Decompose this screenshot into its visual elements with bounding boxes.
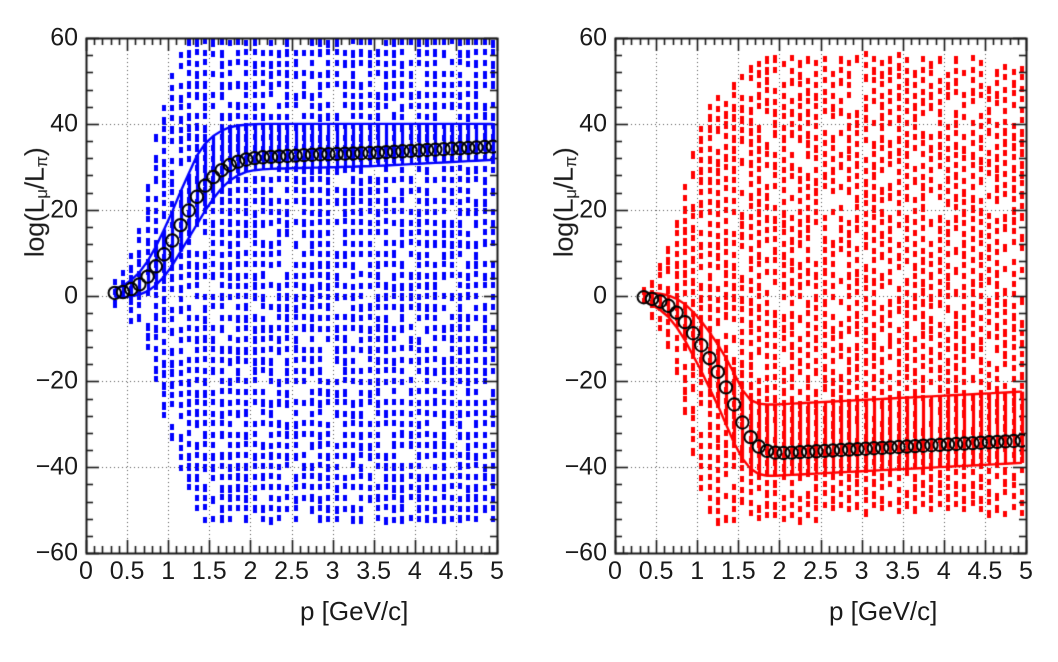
x-tick-label: 1.5 xyxy=(721,557,756,586)
y-axis-title-muon: log(Lμ/Lπ) xyxy=(20,92,53,312)
x-tick-label: 0.5 xyxy=(639,557,674,586)
x-tick-label: 0 xyxy=(79,557,93,586)
y-axis-title-text: log(L xyxy=(20,199,50,258)
y-axis-title-end: ) xyxy=(20,147,50,156)
y-axis-title-mid: /L xyxy=(20,167,50,189)
chart-panel-pion: log(Lμ/Lπ) p [GeV/c] −60−40−20020406000.… xyxy=(529,0,1058,662)
x-tick-label: 4 xyxy=(408,557,422,586)
x-tick-label: 2 xyxy=(772,557,786,586)
y-tick-label: −60 xyxy=(565,539,607,568)
x-tick-label: 5 xyxy=(1019,557,1033,586)
y-tick-label: −40 xyxy=(36,453,78,482)
x-tick-label: 2 xyxy=(243,557,257,586)
y-tick-label: −20 xyxy=(565,367,607,396)
y-tick-label: −20 xyxy=(36,367,78,396)
x-tick-label: 3.5 xyxy=(885,557,920,586)
x-tick-label: 3.5 xyxy=(356,557,391,586)
y-axis-title-sub-mu: μ xyxy=(32,189,51,198)
y-tick-label: −60 xyxy=(36,539,78,568)
x-tick-label: 1 xyxy=(690,557,704,586)
y-axis-title-text: log(L xyxy=(549,199,579,258)
x-tick-label: 4.5 xyxy=(439,557,474,586)
y-tick-label: 0 xyxy=(64,281,78,310)
x-tick-label: 4 xyxy=(937,557,951,586)
y-tick-label: 20 xyxy=(579,195,607,224)
y-axis-title-mid: /L xyxy=(549,167,579,189)
x-tick-label: 3 xyxy=(855,557,869,586)
x-tick-label: 1.5 xyxy=(192,557,227,586)
y-axis-title-sub-mu: μ xyxy=(561,189,580,198)
chart-panel-muon: log(Lμ/Lπ) p [GeV/c] −60−40−20020406000.… xyxy=(0,0,529,662)
y-axis-title-sub-pi: π xyxy=(32,156,51,167)
y-axis-title-end: ) xyxy=(549,147,579,156)
y-tick-label: 40 xyxy=(50,109,78,138)
x-tick-label: 2.5 xyxy=(274,557,309,586)
y-tick-label: −40 xyxy=(565,453,607,482)
y-tick-label: 60 xyxy=(579,24,607,53)
x-tick-label: 2.5 xyxy=(803,557,838,586)
y-tick-label: 40 xyxy=(579,109,607,138)
x-tick-label: 0 xyxy=(608,557,622,586)
y-tick-label: 20 xyxy=(50,195,78,224)
x-axis-title-pion: p [GeV/c] xyxy=(829,596,937,627)
y-axis-title-sub-pi: π xyxy=(561,156,580,167)
x-tick-label: 0.5 xyxy=(110,557,145,586)
x-tick-label: 4.5 xyxy=(968,557,1003,586)
x-tick-label: 1 xyxy=(161,557,175,586)
figure-root: log(Lμ/Lπ) p [GeV/c] −60−40−20020406000.… xyxy=(0,0,1058,662)
x-tick-label: 5 xyxy=(490,557,504,586)
x-axis-title-muon: p [GeV/c] xyxy=(300,596,408,627)
x-tick-label: 3 xyxy=(326,557,340,586)
y-tick-label: 0 xyxy=(593,281,607,310)
y-tick-label: 60 xyxy=(50,24,78,53)
y-axis-title-pion: log(Lμ/Lπ) xyxy=(549,92,582,312)
